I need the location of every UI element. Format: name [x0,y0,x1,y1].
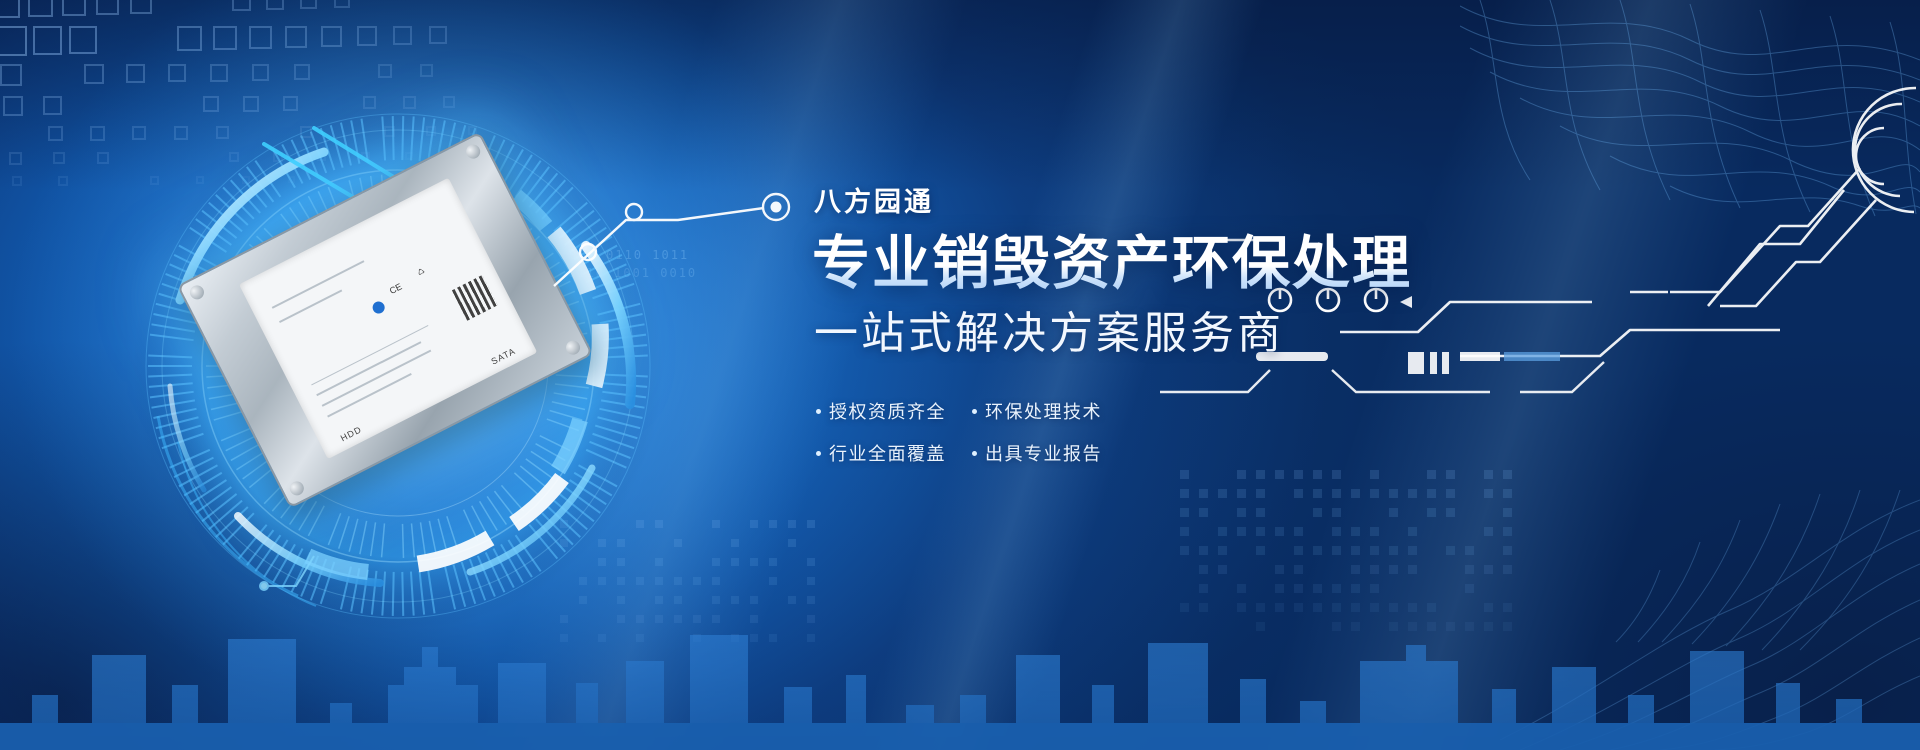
bullet-dot-icon [972,451,977,456]
hero-banner: 1001 0010 1001 1001 0110 1011 0011 0101 … [0,0,1920,750]
feature-bullet-label: 授权资质齐全 [829,398,946,424]
bullet-dot-icon [816,409,821,414]
hdd-brand-text: HDD [339,424,364,443]
feature-bullet-label: 出具专业报告 [985,440,1102,466]
brand-eyebrow: 八方园通 [814,180,1512,219]
city-skyline-graphic [0,535,1920,750]
feature-bullet-4: 出具专业报告 [972,440,1102,466]
feature-bullet-row: 行业全面覆盖 出具专业报告 [816,440,1116,466]
feature-bullet-1: 授权资质齐全 [816,398,946,424]
page-subtitle: 一站式解决方案服务商 [814,308,1512,361]
page-title: 专业销毁资产环保处理 [812,233,1512,296]
bullet-dot-icon [972,409,977,414]
hero-text-block: 八方园通 专业销毁资产环保处理 一站式解决方案服务商 授权资质齐全 环保处理技术… [812,180,1512,482]
feature-bullet-3: 行业全面覆盖 [816,440,946,466]
feature-bullet-label: 行业全面覆盖 [829,440,946,466]
hdd-sticker-dot [371,300,387,316]
bullet-dot-icon [816,451,821,456]
feature-bullet-2: 环保处理技术 [972,398,1102,424]
feature-bullet-label: 环保处理技术 [985,398,1102,424]
node-connector-line-left [548,176,808,296]
feature-bullet-row: 授权资质齐全 环保处理技术 [816,398,1116,424]
feature-bullet-list: 授权资质齐全 环保处理技术 行业全面覆盖 出具专业报告 [816,398,1116,466]
qr-code-icon [452,275,498,321]
hdd-interface-text: SATA [489,345,517,366]
